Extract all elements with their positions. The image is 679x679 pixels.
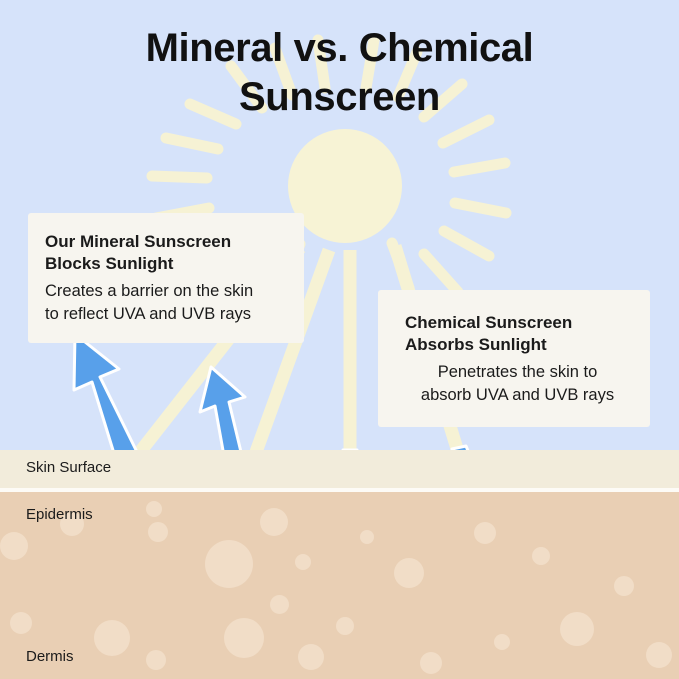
dermis-bubble <box>146 501 162 517</box>
layer-label-skin-surface: Skin Surface <box>26 459 111 476</box>
dermis-bubble <box>532 547 550 565</box>
callout-chemical-body: Penetrates the skin to absorb UVA and UV… <box>405 361 630 407</box>
epidermis-dermis-layer <box>0 492 679 679</box>
dermis-bubble <box>336 617 354 635</box>
dermis-bubble <box>10 612 32 634</box>
page-title: Mineral vs. Chemical Sunscreen <box>0 24 679 122</box>
callout-mineral-heading: Our Mineral Sunscreen Blocks Sunlight <box>45 231 284 275</box>
dermis-bubble <box>0 532 28 560</box>
dermis-bubble <box>148 522 168 542</box>
layer-label-epidermis: Epidermis <box>26 506 93 523</box>
callout-mineral-body: Creates a barrier on the skin to reflect… <box>45 280 284 326</box>
callout-chemical-heading: Chemical Sunscreen Absorbs Sunlight <box>405 312 630 356</box>
dermis-bubble <box>560 612 594 646</box>
dermis-bubble <box>270 595 289 614</box>
dermis-bubble <box>298 644 324 670</box>
dermis-bubble <box>646 642 672 668</box>
dermis-bubble <box>614 576 634 596</box>
dermis-bubble <box>205 540 253 588</box>
sunscreen-infographic: Mineral vs. Chemical Sunscreen Our Miner… <box>0 0 679 679</box>
dermis-bubble <box>224 618 264 658</box>
dermis-bubble <box>420 652 442 674</box>
dermis-bubble <box>360 530 374 544</box>
layer-label-dermis: Dermis <box>26 648 74 665</box>
dermis-bubble <box>394 558 424 588</box>
dermis-bubble <box>94 620 130 656</box>
callout-mineral-sunscreen: Our Mineral Sunscreen Blocks Sunlight Cr… <box>28 213 304 343</box>
dermis-bubble <box>260 508 288 536</box>
dermis-bubble <box>494 634 510 650</box>
dermis-bubble <box>474 522 496 544</box>
callout-chemical-sunscreen: Chemical Sunscreen Absorbs Sunlight Pene… <box>378 290 650 427</box>
dermis-bubble <box>146 650 166 670</box>
dermis-bubble <box>295 554 311 570</box>
